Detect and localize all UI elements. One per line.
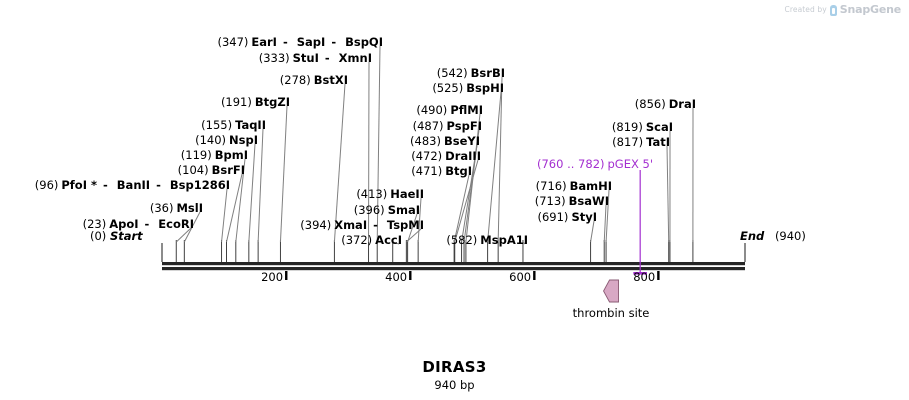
- enzyme-label-nspi: (140)NspI: [195, 134, 258, 147]
- enzyme-name: BpmI: [215, 148, 248, 162]
- enzyme-position: (96): [35, 178, 59, 192]
- enzyme-label-pfoi: (96)PfoI * - BanII - Bsp1286I: [35, 179, 230, 192]
- enzyme-position: (582): [446, 233, 477, 247]
- enzyme-position: (394): [300, 218, 331, 232]
- map-title-block: DIRAS3 940 bp: [0, 358, 909, 392]
- enzyme-position: (483): [410, 134, 441, 148]
- enzyme-position: (819): [612, 120, 643, 134]
- sequence-end-position: (940): [775, 229, 806, 243]
- enzyme-position: (487): [413, 119, 444, 133]
- enzyme-name: BanII: [117, 178, 150, 192]
- enzyme-position: (471): [411, 164, 442, 178]
- enzyme-name: BtgZI: [255, 95, 290, 109]
- enzyme-label-styi: (691)StyI: [538, 211, 598, 224]
- ruler-tickmarks-group: [285, 271, 660, 280]
- enzyme-name: StuI: [293, 51, 319, 65]
- enzyme-name: TspMI: [387, 218, 424, 232]
- enzyme-name: TaqII: [235, 118, 266, 132]
- enzyme-label-bamhi: (716)BamHI: [536, 180, 612, 193]
- enzyme-position: (817): [612, 135, 643, 149]
- enzyme-position: (119): [181, 148, 212, 162]
- enzyme-name: DraI: [669, 97, 696, 111]
- enzyme-leader-line: [591, 221, 594, 242]
- enzyme-position: (856): [635, 97, 666, 111]
- enzyme-position: (155): [201, 118, 232, 132]
- sequence-start-name: Start: [110, 229, 143, 243]
- feature-name: pGEX 5': [608, 157, 654, 171]
- ruler-tick-number: 400: [385, 270, 407, 284]
- enzyme-name: AccI: [375, 233, 402, 247]
- sequence-start-label: (0) Start: [90, 230, 143, 243]
- thrombin-site-label: thrombin site: [573, 306, 650, 320]
- enzyme-position: (140): [195, 133, 226, 147]
- annotation-shapes-group: [604, 280, 619, 302]
- enzyme-name: BsaWI: [569, 194, 609, 208]
- snapgene-sequence-map: Created by SnapGene (347)EarI - SapI - B…: [0, 0, 909, 400]
- enzyme-label-tati: (817)TatI: [612, 136, 670, 149]
- enzyme-name-separator: -: [369, 218, 382, 232]
- enzyme-position: (104): [178, 163, 209, 177]
- enzyme-label-scai: (819)ScaI: [612, 121, 673, 134]
- snapgene-logo-icon: [830, 5, 837, 16]
- enzyme-position: (413): [356, 187, 387, 201]
- ruler-tick-number: 600: [509, 270, 531, 284]
- watermark-created-by-text: Created by: [785, 5, 827, 14]
- enzyme-label-bstxi: (278)BstXI: [280, 74, 348, 87]
- enzyme-name: SapI: [297, 35, 326, 49]
- enzyme-leader-line: [280, 106, 287, 242]
- watermark-brand-text: SnapGene: [840, 3, 901, 16]
- enzyme-label-pflmi: (490)PflMI: [416, 104, 483, 117]
- enzyme-position: (372): [341, 233, 372, 247]
- enzyme-name-separator: -: [327, 35, 340, 49]
- enzyme-name-separator: -: [152, 178, 165, 192]
- sequence-end-name: End: [740, 229, 764, 243]
- enzyme-label-btgi: (471)BtgI: [411, 165, 472, 178]
- enzyme-label-bsrbi: (542)BsrBI: [437, 67, 505, 80]
- enzyme-leader-line: [249, 144, 255, 242]
- enzyme-name: BspHI: [466, 81, 504, 95]
- enzyme-name: EcoRI: [158, 217, 194, 231]
- enzyme-name: SmaI: [388, 203, 420, 217]
- enzyme-position: (191): [221, 95, 252, 109]
- enzyme-position: (347): [217, 35, 248, 49]
- enzyme-label-smai: (396)SmaI: [354, 204, 420, 217]
- feature-range: (760 .. 782): [537, 157, 605, 171]
- feature-label-pgex5: (760 .. 782)pGEX 5': [537, 158, 653, 171]
- enzyme-leader-line: [498, 77, 502, 242]
- enzyme-name: XmaI: [334, 218, 367, 232]
- enzyme-label-pspfi: (487)PspFI: [413, 120, 482, 133]
- enzyme-label-stui: (333)StuI - XmnI: [259, 52, 372, 65]
- enzyme-leader-line: [488, 92, 501, 242]
- enzyme-label-taqii: (155)TaqII: [201, 119, 266, 132]
- enzyme-position: (542): [437, 66, 468, 80]
- enzyme-label-btgzi: (191)BtgZI: [221, 96, 290, 109]
- enzyme-label-msli: (36)MslI: [150, 202, 203, 215]
- enzyme-label-draiii: (472)DraIII: [411, 150, 481, 163]
- ruler-tickmark: [285, 271, 287, 280]
- enzyme-label-bsrfi: (104)BsrFI: [178, 164, 245, 177]
- enzyme-name: XmnI: [339, 51, 372, 65]
- feature-bars-group: [633, 170, 647, 275]
- enzyme-name: PfoI *: [61, 178, 97, 192]
- enzyme-name: MspA1I: [480, 233, 528, 247]
- enzyme-label-haeii: (413)HaeII: [356, 188, 424, 201]
- enzyme-name: PspFI: [447, 119, 482, 133]
- enzyme-label-bpmi: (119)BpmI: [181, 149, 248, 162]
- enzyme-position: (36): [150, 201, 174, 215]
- enzyme-name: EarI: [251, 35, 277, 49]
- enzyme-leader-line: [667, 146, 669, 242]
- enzyme-name: StyI: [571, 210, 597, 224]
- sequence-axis-group: [162, 262, 745, 270]
- enzyme-position: (396): [354, 203, 385, 217]
- enzyme-label-bsphi: (525)BspHI: [432, 82, 504, 95]
- enzyme-name: ScaI: [646, 120, 673, 134]
- enzyme-name: HaeII: [390, 187, 424, 201]
- enzyme-label-eari: (347)EarI - SapI - BspQI: [217, 36, 383, 49]
- sequence-axis-top-rule: [162, 262, 745, 265]
- ruler-tick-number: 200: [261, 270, 283, 284]
- enzyme-position: (490): [416, 103, 447, 117]
- enzyme-leader-line: [222, 189, 227, 242]
- enzyme-name: BsrFI: [212, 163, 245, 177]
- enzyme-leader-line: [454, 175, 469, 242]
- enzyme-position: (713): [535, 194, 566, 208]
- ruler-tickmark: [657, 271, 659, 280]
- enzyme-label-xmai: (394)XmaI - TspMI: [300, 219, 424, 232]
- enzyme-position: (525): [432, 81, 463, 95]
- map-vector-layer: [0, 0, 909, 400]
- enzyme-leader-line: [258, 129, 263, 242]
- enzyme-name: BstXI: [314, 73, 348, 87]
- enzyme-position: (333): [259, 51, 290, 65]
- enzyme-position: (691): [538, 210, 569, 224]
- sequence-start-position: (0): [90, 229, 106, 243]
- enzyme-label-acci: (372)AccI: [341, 234, 402, 247]
- enzyme-label-mspa1i: (582)MspA1I: [446, 234, 528, 247]
- enzyme-name: BsrBI: [471, 66, 505, 80]
- enzyme-name-separator: -: [99, 178, 112, 192]
- ruler-tickmark: [409, 271, 411, 280]
- enzyme-name: BtgI: [445, 164, 472, 178]
- enzyme-label-bsawi: (713)BsaWI: [535, 195, 609, 208]
- enzyme-label-bseyi: (483)BseYI: [410, 135, 480, 148]
- enzyme-name: PflMI: [450, 103, 483, 117]
- enzyme-name: TatI: [646, 135, 670, 149]
- enzyme-name: MslI: [176, 201, 203, 215]
- enzyme-name: NspI: [229, 133, 258, 147]
- sequence-end-label: End (940): [740, 230, 806, 243]
- enzyme-label-drai: (856)DraI: [635, 98, 696, 111]
- sequence-length-label: 940 bp: [0, 378, 909, 392]
- enzyme-position: (716): [536, 179, 567, 193]
- enzyme-position: (472): [411, 149, 442, 163]
- enzyme-name: BseYI: [444, 134, 480, 148]
- enzyme-name-separator: -: [321, 51, 334, 65]
- enzyme-position: (278): [280, 73, 311, 87]
- enzyme-name: Bsp1286I: [170, 178, 230, 192]
- enzyme-name: BspQI: [345, 35, 383, 49]
- page-title: DIRAS3: [0, 358, 909, 376]
- enzyme-leader-line: [604, 205, 606, 242]
- ruler-tick-number: 800: [633, 270, 655, 284]
- snapgene-watermark: Created by SnapGene: [785, 3, 902, 16]
- enzyme-name: BamHI: [570, 179, 612, 193]
- enzyme-name: DraIII: [445, 149, 481, 163]
- enzyme-name-separator: -: [279, 35, 292, 49]
- left-arrow-feature-icon: [604, 280, 619, 302]
- sequence-axis-bottom-rule: [162, 267, 745, 270]
- ruler-tickmark: [533, 271, 535, 280]
